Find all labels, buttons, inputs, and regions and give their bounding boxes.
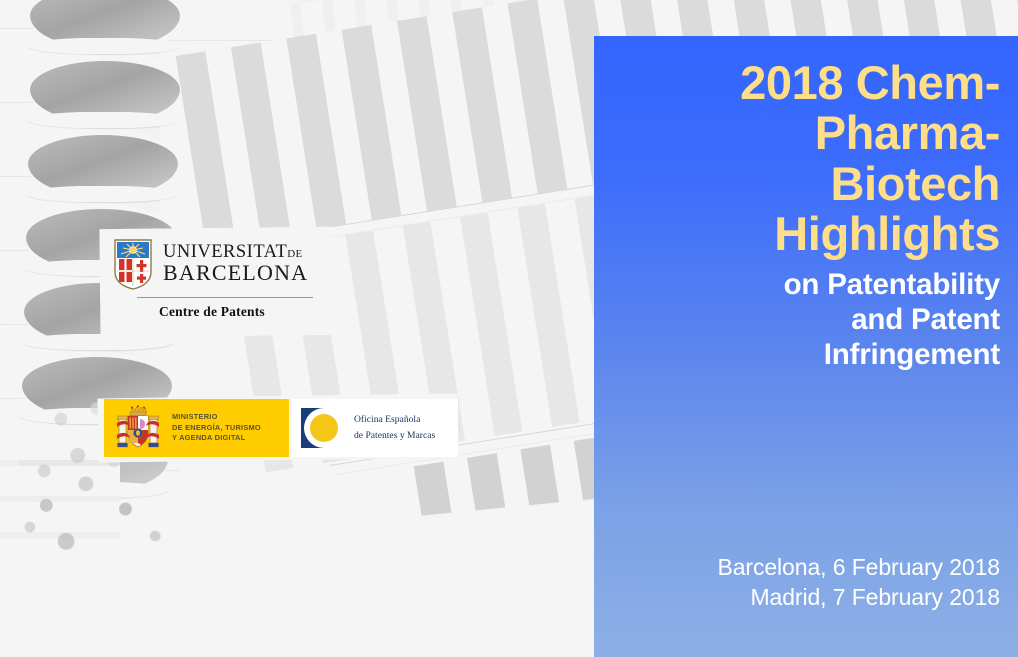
panel-spacer [614,373,1000,552]
universitat-de-barcelona-logo: UNIVERSITATDE BARCELONA Centre de Patent… [113,238,313,326]
poster-dates: Barcelona, 6 February 2018 Madrid, 7 Feb… [614,552,1000,613]
poster-title-line: Biotech [614,159,1000,209]
poster-subtitle-line: on Patentability [614,268,1000,303]
poster-title-line: Highlights [614,209,1000,259]
oepm-line2: de Patentes y Marcas [354,428,435,444]
ub-divider [137,297,313,298]
poster-date-line: Barcelona, 6 February 2018 [614,552,1000,583]
conference-poster: UNIVERSITATDE BARCELONA Centre de Patent… [0,0,1018,657]
poster-subtitle-line: and Patent [614,303,1000,338]
ministerio-line2: DE ENERGÍA, TURISMO [172,423,261,434]
barcelona-crest-icon [113,238,153,290]
photo-balcony-rail [26,186,178,202]
photo-balcony-rail [28,112,180,128]
poster-title: 2018 Chem- Pharma- Biotech Highlights [614,58,1000,259]
oepm-line1: Oficina Española [354,412,435,428]
poster-title-line: 2018 Chem- [614,58,1000,108]
ub-line2: BARCELONA [163,262,308,284]
ministerio-logo: MINISTERIO DE ENERGÍA, TURISMO Y AGENDA … [104,399,289,457]
spain-coat-of-arms-icon [110,403,166,453]
ub-centre-de-patents-label: Centre de Patents [159,304,265,320]
blue-text-panel: 2018 Chem- Pharma- Biotech Highlights on… [594,36,1018,657]
ub-line1-small: DE [287,248,302,260]
poster-title-line: Pharma- [614,108,1000,158]
poster-date-line: Madrid, 7 February 2018 [614,582,1000,613]
oepm-logo: Oficina Española de Patentes y Marcas [292,399,458,457]
ministerio-line1: MINISTERIO [172,412,261,423]
poster-subtitle-line: Infringement [614,338,1000,373]
photo-balcony-rail [28,38,180,54]
poster-subtitle: on Patentability and Patent Infringement [614,268,1000,372]
oepm-crescent-sun-icon [298,405,346,451]
ministerio-line3: Y AGENDA DIGITAL [172,433,261,444]
